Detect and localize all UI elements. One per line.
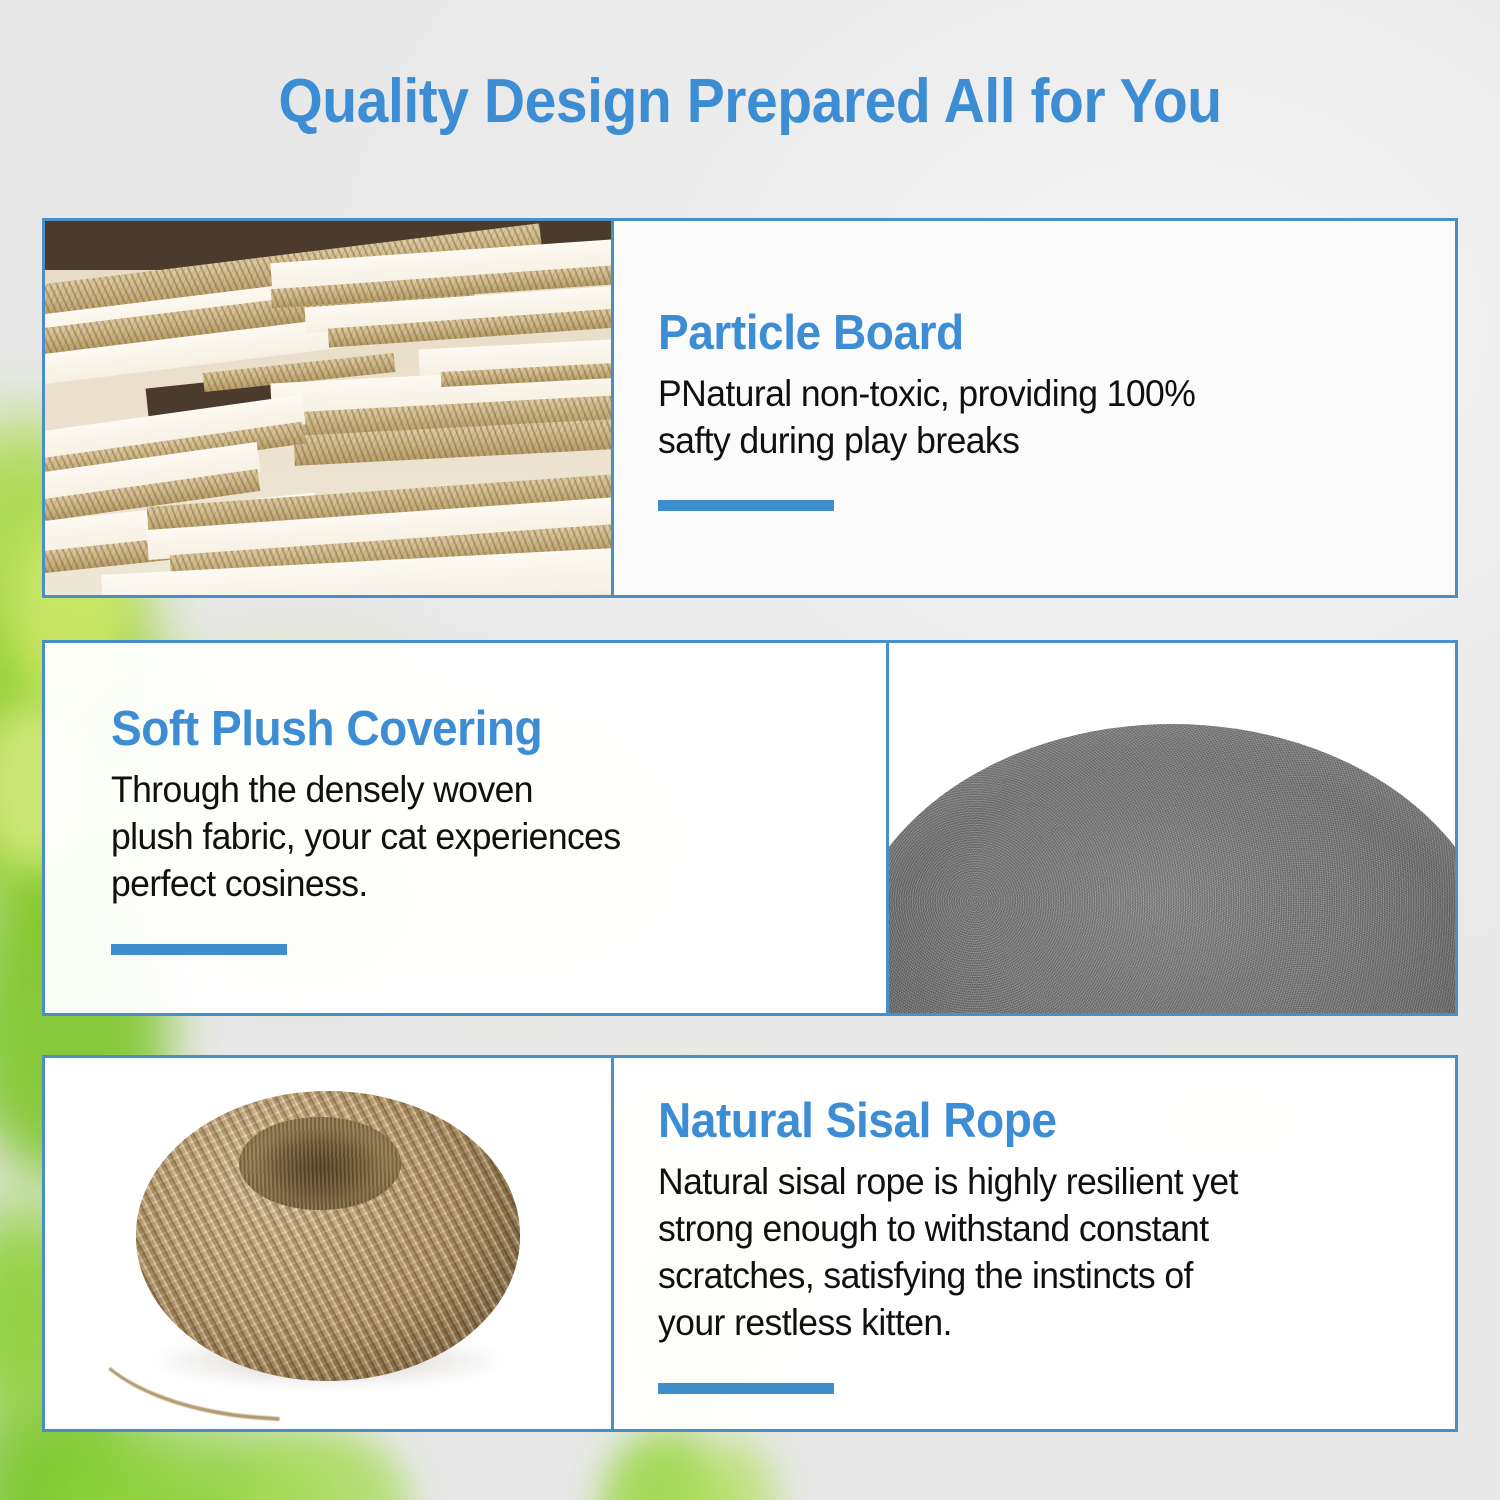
page-title: Quality Design Prepared All for You: [60, 66, 1440, 137]
particle-board-text-pane: Particle Board PNatural non-toxic, provi…: [614, 221, 1455, 595]
accent-underline-bar: [658, 1383, 834, 1394]
soft-plush-text-pane: Soft Plush Covering Through the densely …: [45, 643, 886, 1013]
grey-plush-fabric-photo: [889, 643, 1455, 1013]
feature-card-soft-plush-covering: Soft Plush Covering Through the densely …: [42, 640, 1458, 1016]
card-heading: Natural Sisal Rope: [658, 1093, 1366, 1149]
card-heading: Particle Board: [658, 305, 1366, 361]
sisal-rope-ball-photo: [45, 1058, 611, 1429]
sisal-rope-text-pane: Natural Sisal Rope Natural sisal rope is…: [614, 1058, 1455, 1429]
accent-underline-bar: [658, 500, 834, 511]
card-body-text: PNatural non-toxic, providing 100% safty…: [658, 371, 1381, 465]
card-heading: Soft Plush Covering: [111, 701, 840, 757]
feature-card-particle-board: Particle Board PNatural non-toxic, provi…: [42, 218, 1458, 598]
accent-underline-bar: [111, 944, 287, 955]
card-body-text: Natural sisal rope is highly resilient y…: [658, 1159, 1381, 1347]
particle-board-stack-photo: [45, 221, 611, 595]
feature-card-natural-sisal-rope: Natural Sisal Rope Natural sisal rope is…: [42, 1055, 1458, 1432]
card-body-text: Through the densely woven plush fabric, …: [111, 767, 855, 908]
